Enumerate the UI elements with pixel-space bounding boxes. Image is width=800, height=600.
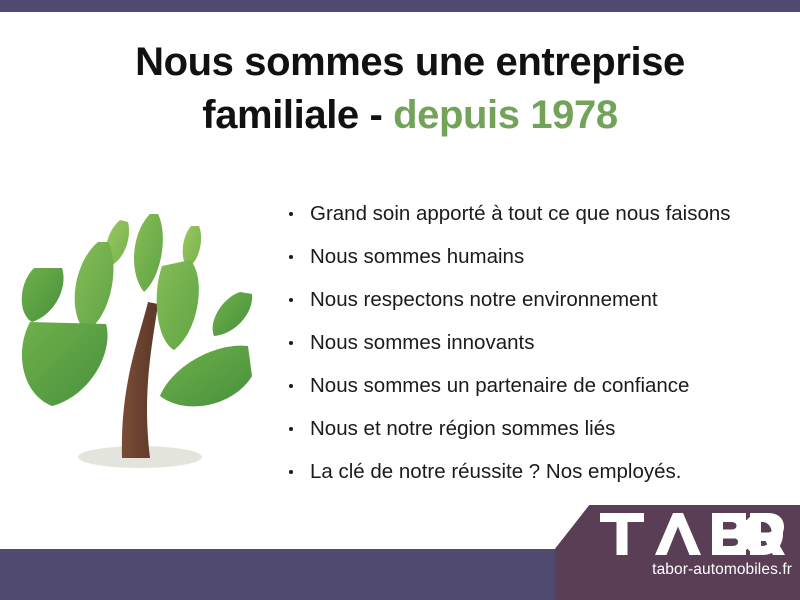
- bullet-dot-icon: [289, 470, 293, 474]
- tree-leaf: [157, 260, 199, 350]
- bullet-dot-icon: [289, 212, 293, 216]
- headline-line-2-plain: familiale -: [202, 93, 393, 137]
- tree-leaf: [160, 346, 252, 407]
- list-item-label: Nous respectons notre environnement: [310, 288, 658, 311]
- list-item: Nous et notre région sommes liés: [286, 407, 786, 450]
- tree-leaf: [213, 292, 253, 336]
- tree-trunk: [122, 302, 158, 458]
- tree-leaf: [75, 242, 114, 332]
- tree-leaf: [22, 322, 108, 406]
- page-title: Nous sommes une entreprise familiale - d…: [60, 36, 760, 142]
- list-item: La clé de notre réussite ? Nos employés.: [286, 450, 786, 493]
- list-item: Nous sommes innovants: [286, 321, 786, 364]
- list-item-label: Nous et notre région sommes liés: [310, 417, 615, 440]
- value-list: Grand soin apporté à tout ce que nous fa…: [286, 192, 786, 493]
- list-item-label: Grand soin apporté à tout ce que nous fa…: [310, 202, 731, 225]
- list-item: Nous respectons notre environnement: [286, 278, 786, 321]
- tree-leaf: [22, 268, 64, 322]
- bullet-dot-icon: [289, 298, 293, 302]
- brand-logo-panel: tabor-automobiles.fr: [555, 505, 800, 600]
- list-item: Grand soin apporté à tout ce que nous fa…: [286, 192, 786, 235]
- top-accent-bar: [0, 0, 800, 12]
- headline-accent-year: depuis 1978: [393, 93, 618, 137]
- list-item-label: La clé de notre réussite ? Nos employés.: [310, 460, 681, 483]
- brand-logo-inner: tabor-automobiles.fr: [555, 505, 800, 600]
- tree-illustration: [10, 180, 270, 490]
- bullet-dot-icon: [289, 341, 293, 345]
- bullet-dot-icon: [289, 427, 293, 431]
- list-item-label: Nous sommes humains: [310, 245, 524, 268]
- list-item-label: Nous sommes innovants: [310, 331, 534, 354]
- headline-line-2: familiale - depuis 1978: [60, 89, 760, 142]
- slide-canvas: Nous sommes une entreprise familiale - d…: [0, 0, 800, 600]
- bullet-dot-icon: [289, 255, 293, 259]
- list-item: Nous sommes humains: [286, 235, 786, 278]
- list-item-label: Nous sommes un partenaire de confiance: [310, 374, 689, 397]
- list-item: Nous sommes un partenaire de confiance: [286, 364, 786, 407]
- headline-line-1: Nous sommes une entreprise: [135, 40, 685, 84]
- logo-url-label: tabor-automobiles.fr: [555, 561, 800, 579]
- bullet-dot-icon: [289, 384, 293, 388]
- tabor-wordmark-icon: [600, 513, 790, 555]
